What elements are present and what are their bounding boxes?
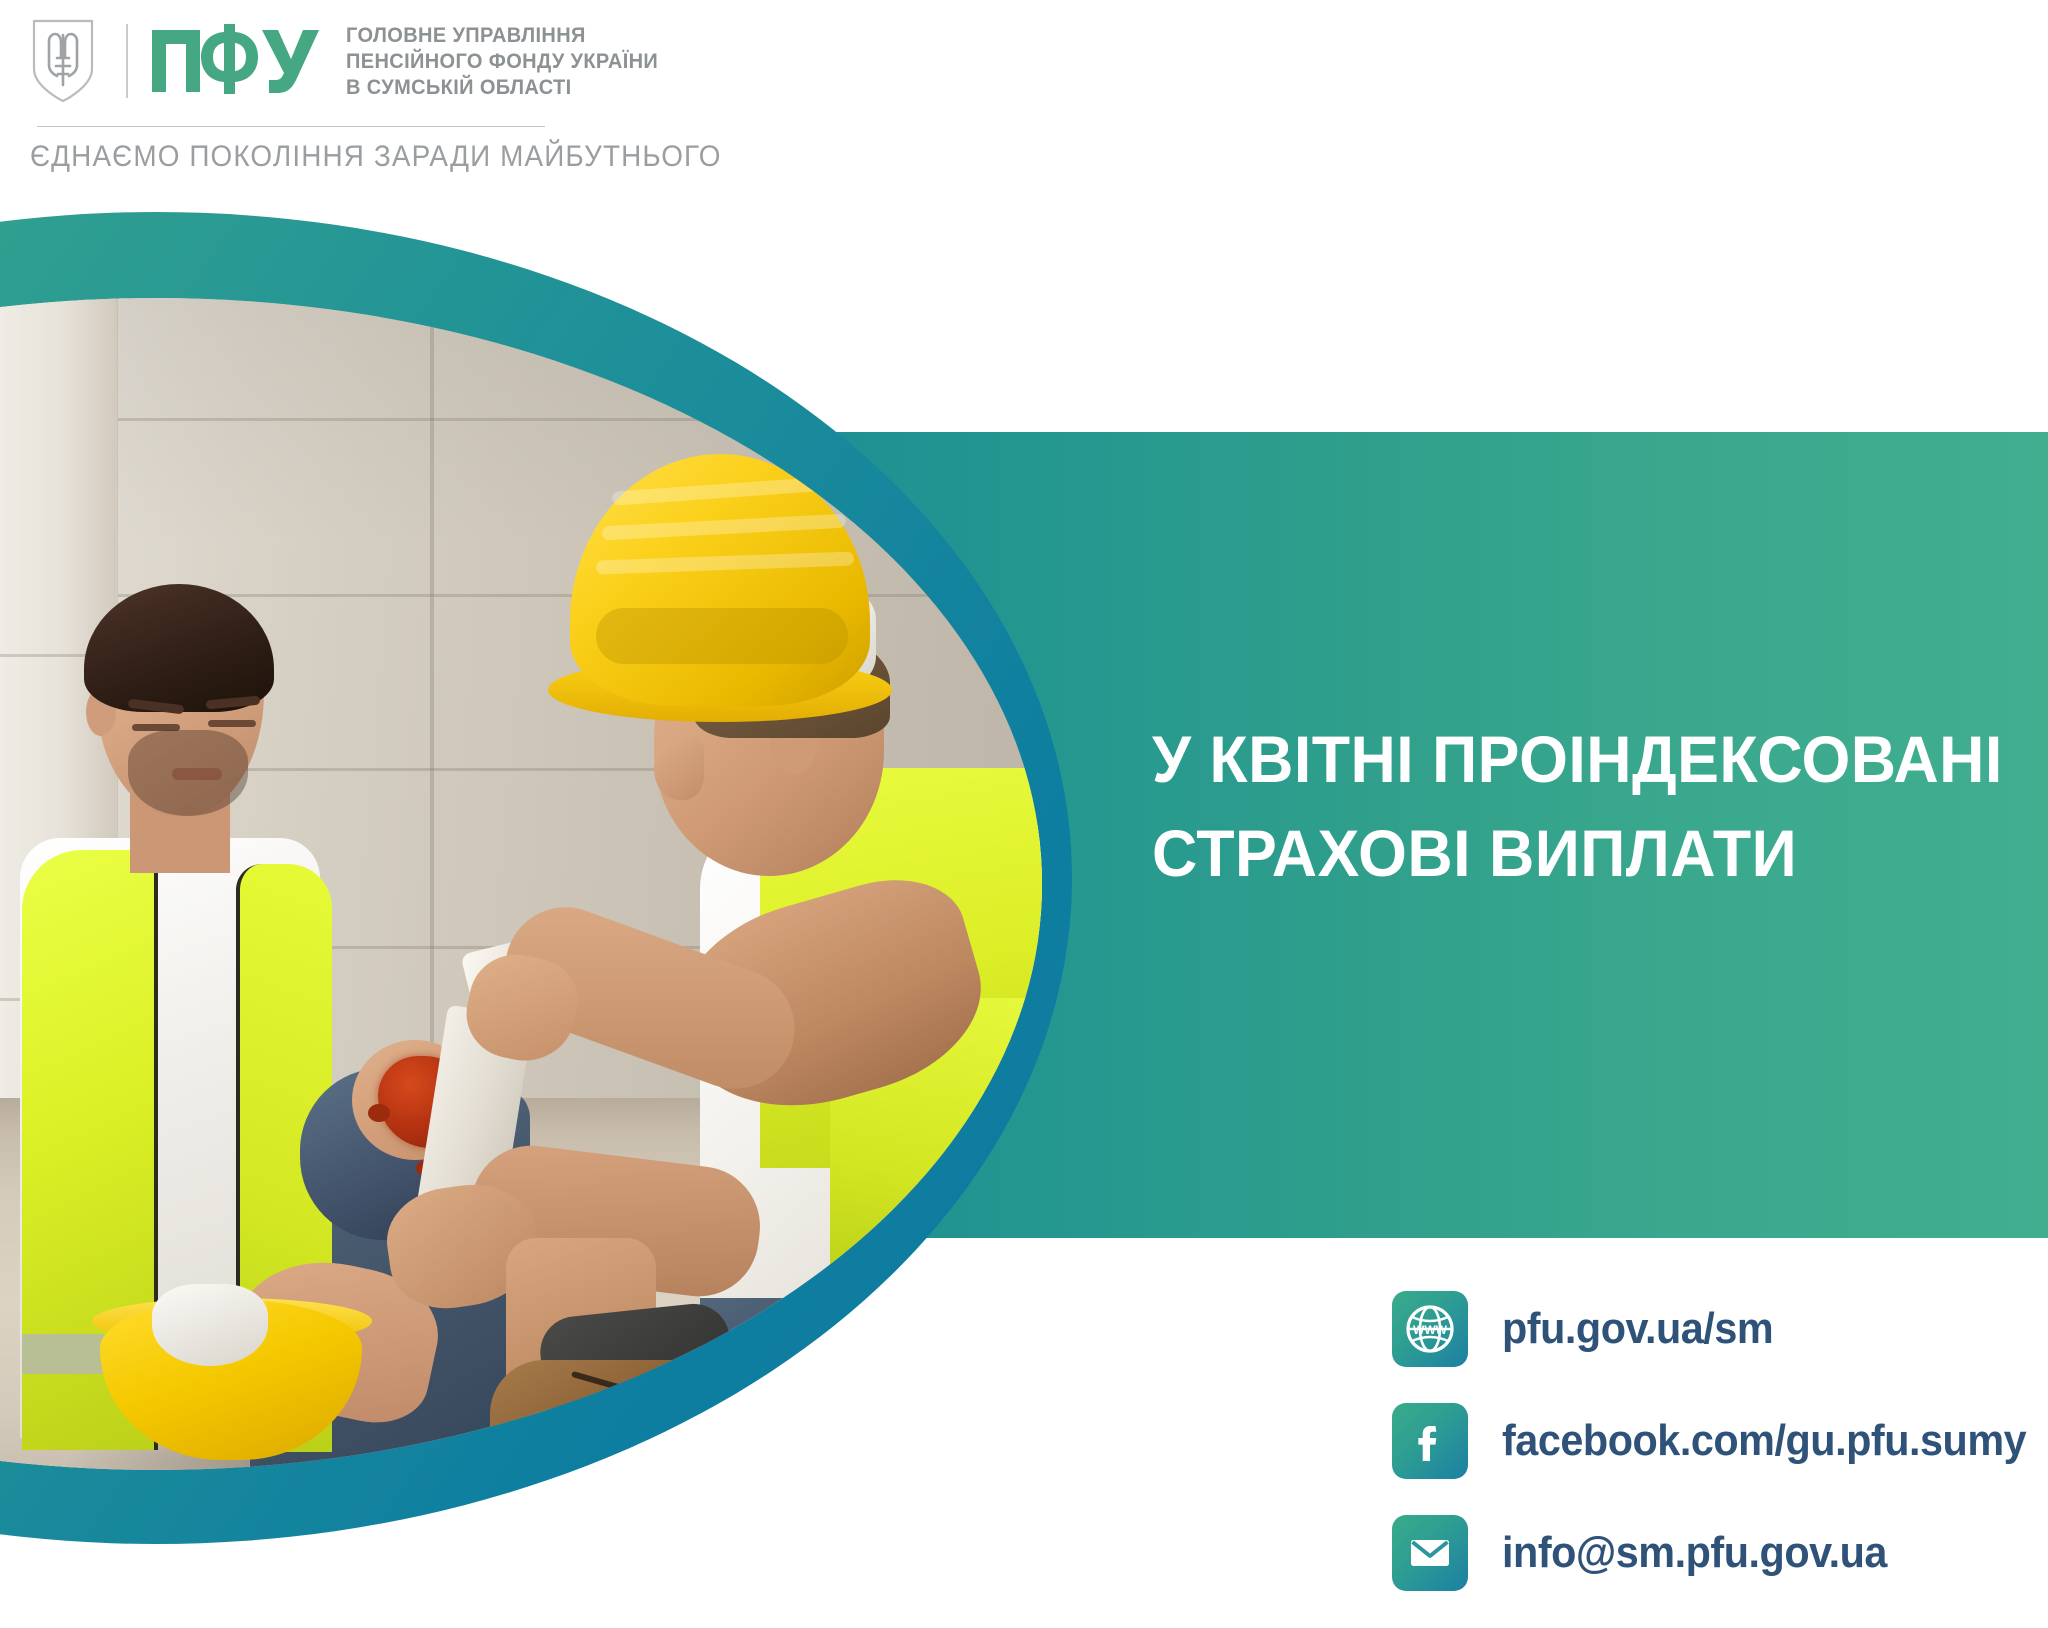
header-slogan: ЄДНАЄМО ПОКОЛІННЯ ЗАРАДИ МАЙБУТНЬОГО [30, 140, 722, 174]
org-name-block: ГОЛОВНЕ УПРАВЛІННЯ ПЕНСІЙНОГО ФОНДУ УКРА… [346, 22, 682, 100]
helmet-shade [596, 608, 848, 664]
banner-title-line-2: СТРАХОВІ ВИПЛАТИ [1152, 806, 1988, 900]
seated-worker-mouth [172, 768, 222, 780]
org-line-3: В СУМСЬКІЙ ОБЛАСТІ [346, 74, 658, 100]
globe-www-icon: WWW [1392, 1291, 1468, 1367]
facebook-icon [1392, 1403, 1468, 1479]
seated-worker-eye [208, 720, 256, 727]
safety-glasses [152, 1284, 268, 1366]
contact-item-facebook[interactable]: facebook.com/gu.pfu.sumy [1392, 1396, 2048, 1486]
helper-nose [654, 738, 704, 800]
envelope-icon [1392, 1515, 1468, 1591]
contact-item-email[interactable]: info@sm.pfu.gov.ua [1392, 1508, 2048, 1598]
org-line-2: ПЕНСІЙНОГО ФОНДУ УКРАЇНИ [346, 48, 658, 74]
header-divider [37, 126, 545, 127]
contact-label-facebook: facebook.com/gu.pfu.sumy [1502, 1416, 2026, 1466]
banner-title-line-1: У КВІТНІ ПРОІНДЕКСОВАНІ [1152, 712, 1988, 806]
banner-title: У КВІТНІ ПРОІНДЕКСОВАНІ СТРАХОВІ ВИПЛАТИ [1152, 712, 2032, 900]
contact-list: WWW pfu.gov.ua/sm facebook.com/gu.pfu.su… [1392, 1284, 2048, 1620]
wall-seam [118, 418, 1042, 421]
wall-seam [430, 298, 434, 1128]
org-line-1: ГОЛОВНЕ УПРАВЛІННЯ [346, 22, 658, 48]
ukraine-trident-emblem [30, 18, 96, 104]
pfu-logo-mark [150, 22, 322, 100]
boot-sole [486, 1446, 748, 1470]
wound-detail [368, 1104, 390, 1122]
contact-item-website[interactable]: WWW pfu.gov.ua/sm [1392, 1284, 2048, 1374]
svg-text:WWW: WWW [1413, 1323, 1448, 1337]
hero-photo [0, 298, 1042, 1470]
logo-vertical-divider [126, 24, 128, 98]
logo-row: ГОЛОВНЕ УПРАВЛІННЯ ПЕНСІЙНОГО ФОНДУ УКРА… [30, 18, 682, 104]
page-header: ГОЛОВНЕ УПРАВЛІННЯ ПЕНСІЙНОГО ФОНДУ УКРА… [0, 0, 2048, 212]
contact-label-website: pfu.gov.ua/sm [1502, 1304, 1773, 1354]
contact-label-email: info@sm.pfu.gov.ua [1502, 1528, 1887, 1578]
